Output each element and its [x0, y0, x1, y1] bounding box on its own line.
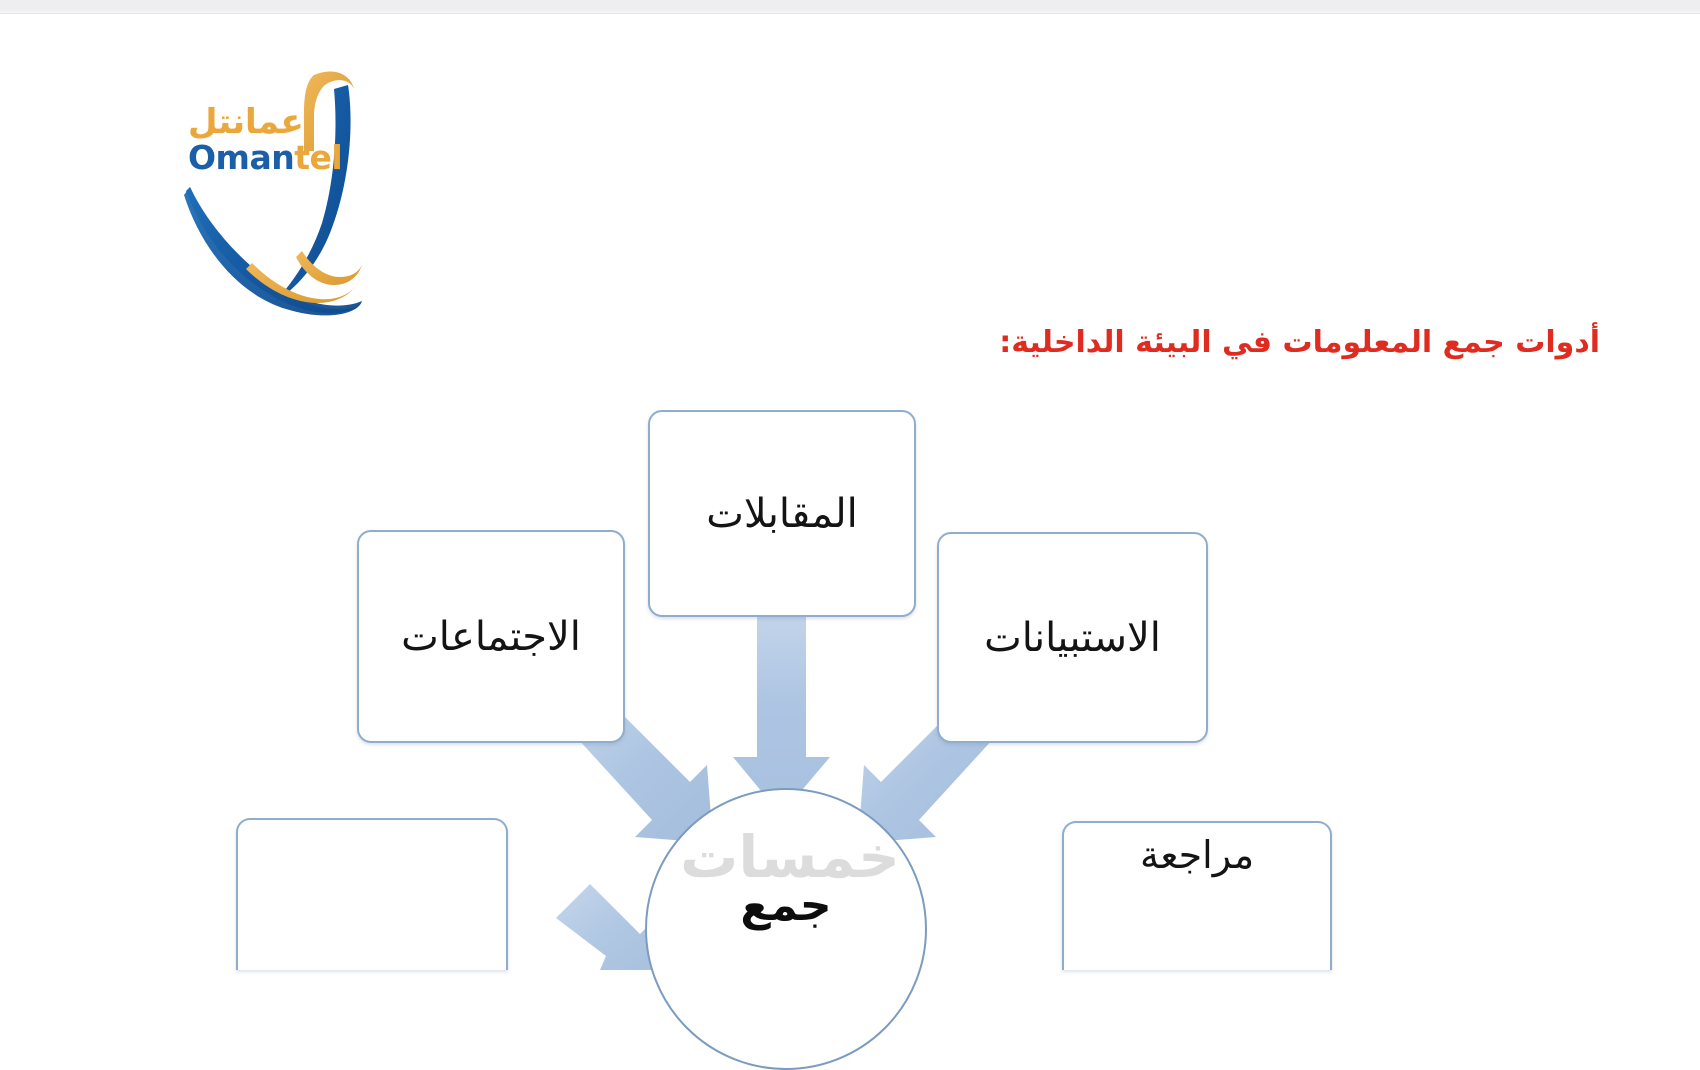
node-review-label: مراجعة — [1140, 833, 1254, 877]
node-review[interactable]: مراجعة — [1062, 821, 1332, 970]
node-questionnaires[interactable]: الاستبيانات — [937, 532, 1208, 743]
node-bottom-left[interactable] — [236, 818, 508, 970]
window-top-bar — [0, 0, 1700, 14]
center-node-label: جمع — [645, 880, 927, 970]
node-interviews[interactable]: المقابلات — [648, 410, 916, 617]
document-page: عمانتل Omantel أدوات جمع المعلومات في ال… — [0, 15, 1700, 970]
node-meetings[interactable]: الاجتماعات — [357, 530, 625, 743]
node-interviews-label: المقابلات — [706, 491, 858, 537]
information-gathering-diagram: جمع خمسات المقابلات الاجتماعات الاستبيان… — [0, 15, 1700, 970]
arrow-interviews-to-center — [733, 615, 830, 815]
node-meetings-label: الاجتماعات — [401, 614, 581, 660]
node-questionnaires-label: الاستبيانات — [984, 615, 1161, 661]
